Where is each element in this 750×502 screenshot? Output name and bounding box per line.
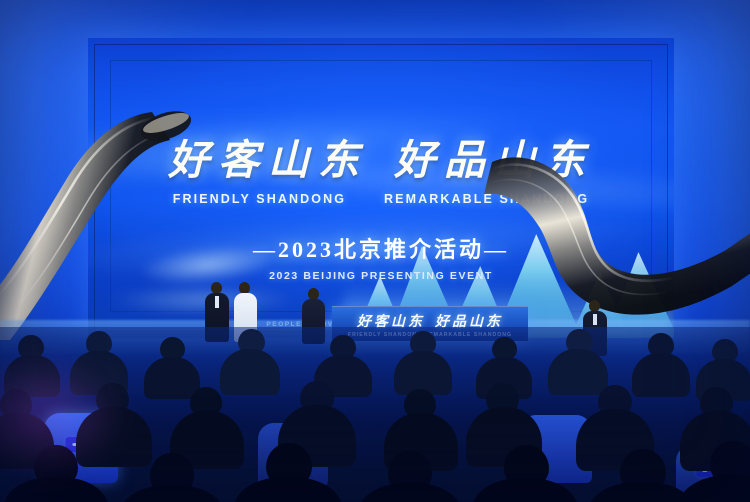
audience-shoulders xyxy=(632,353,690,397)
audience-shoulders xyxy=(548,349,608,395)
audience-shoulders xyxy=(220,349,280,395)
led-backdrop-screen: 好客山东好品山东 FRIENDLY SHANDONG REMARKABLE SH… xyxy=(88,38,674,338)
event-line-cjk: —2023北京推介活动— xyxy=(88,232,674,264)
audience-shoulders xyxy=(76,407,152,467)
main-title-cjk: 好客山东好品山东 xyxy=(88,126,674,186)
main-title-en-row: FRIENDLY SHANDONG REMARKABLE SHANDONG xyxy=(88,192,674,206)
main-title-cjk-left: 好客山东 xyxy=(168,137,368,183)
audience-area xyxy=(0,327,750,502)
event-line-en: 2023 BEIJING PRESENTING EVENT xyxy=(88,270,674,282)
event-photo-scene: 好客山东好品山东 FRIENDLY SHANDONG REMARKABLE SH… xyxy=(0,0,750,502)
screen-headline-block: 好客山东好品山东 FRIENDLY SHANDONG REMARKABLE SH… xyxy=(88,126,674,328)
main-title-cjk-right: 好品山东 xyxy=(394,137,594,183)
main-title-en-right: REMARKABLE SHANDONG xyxy=(384,192,589,206)
audience-shoulders xyxy=(144,357,200,399)
main-title-en-left: FRIENDLY SHANDONG xyxy=(173,192,346,206)
